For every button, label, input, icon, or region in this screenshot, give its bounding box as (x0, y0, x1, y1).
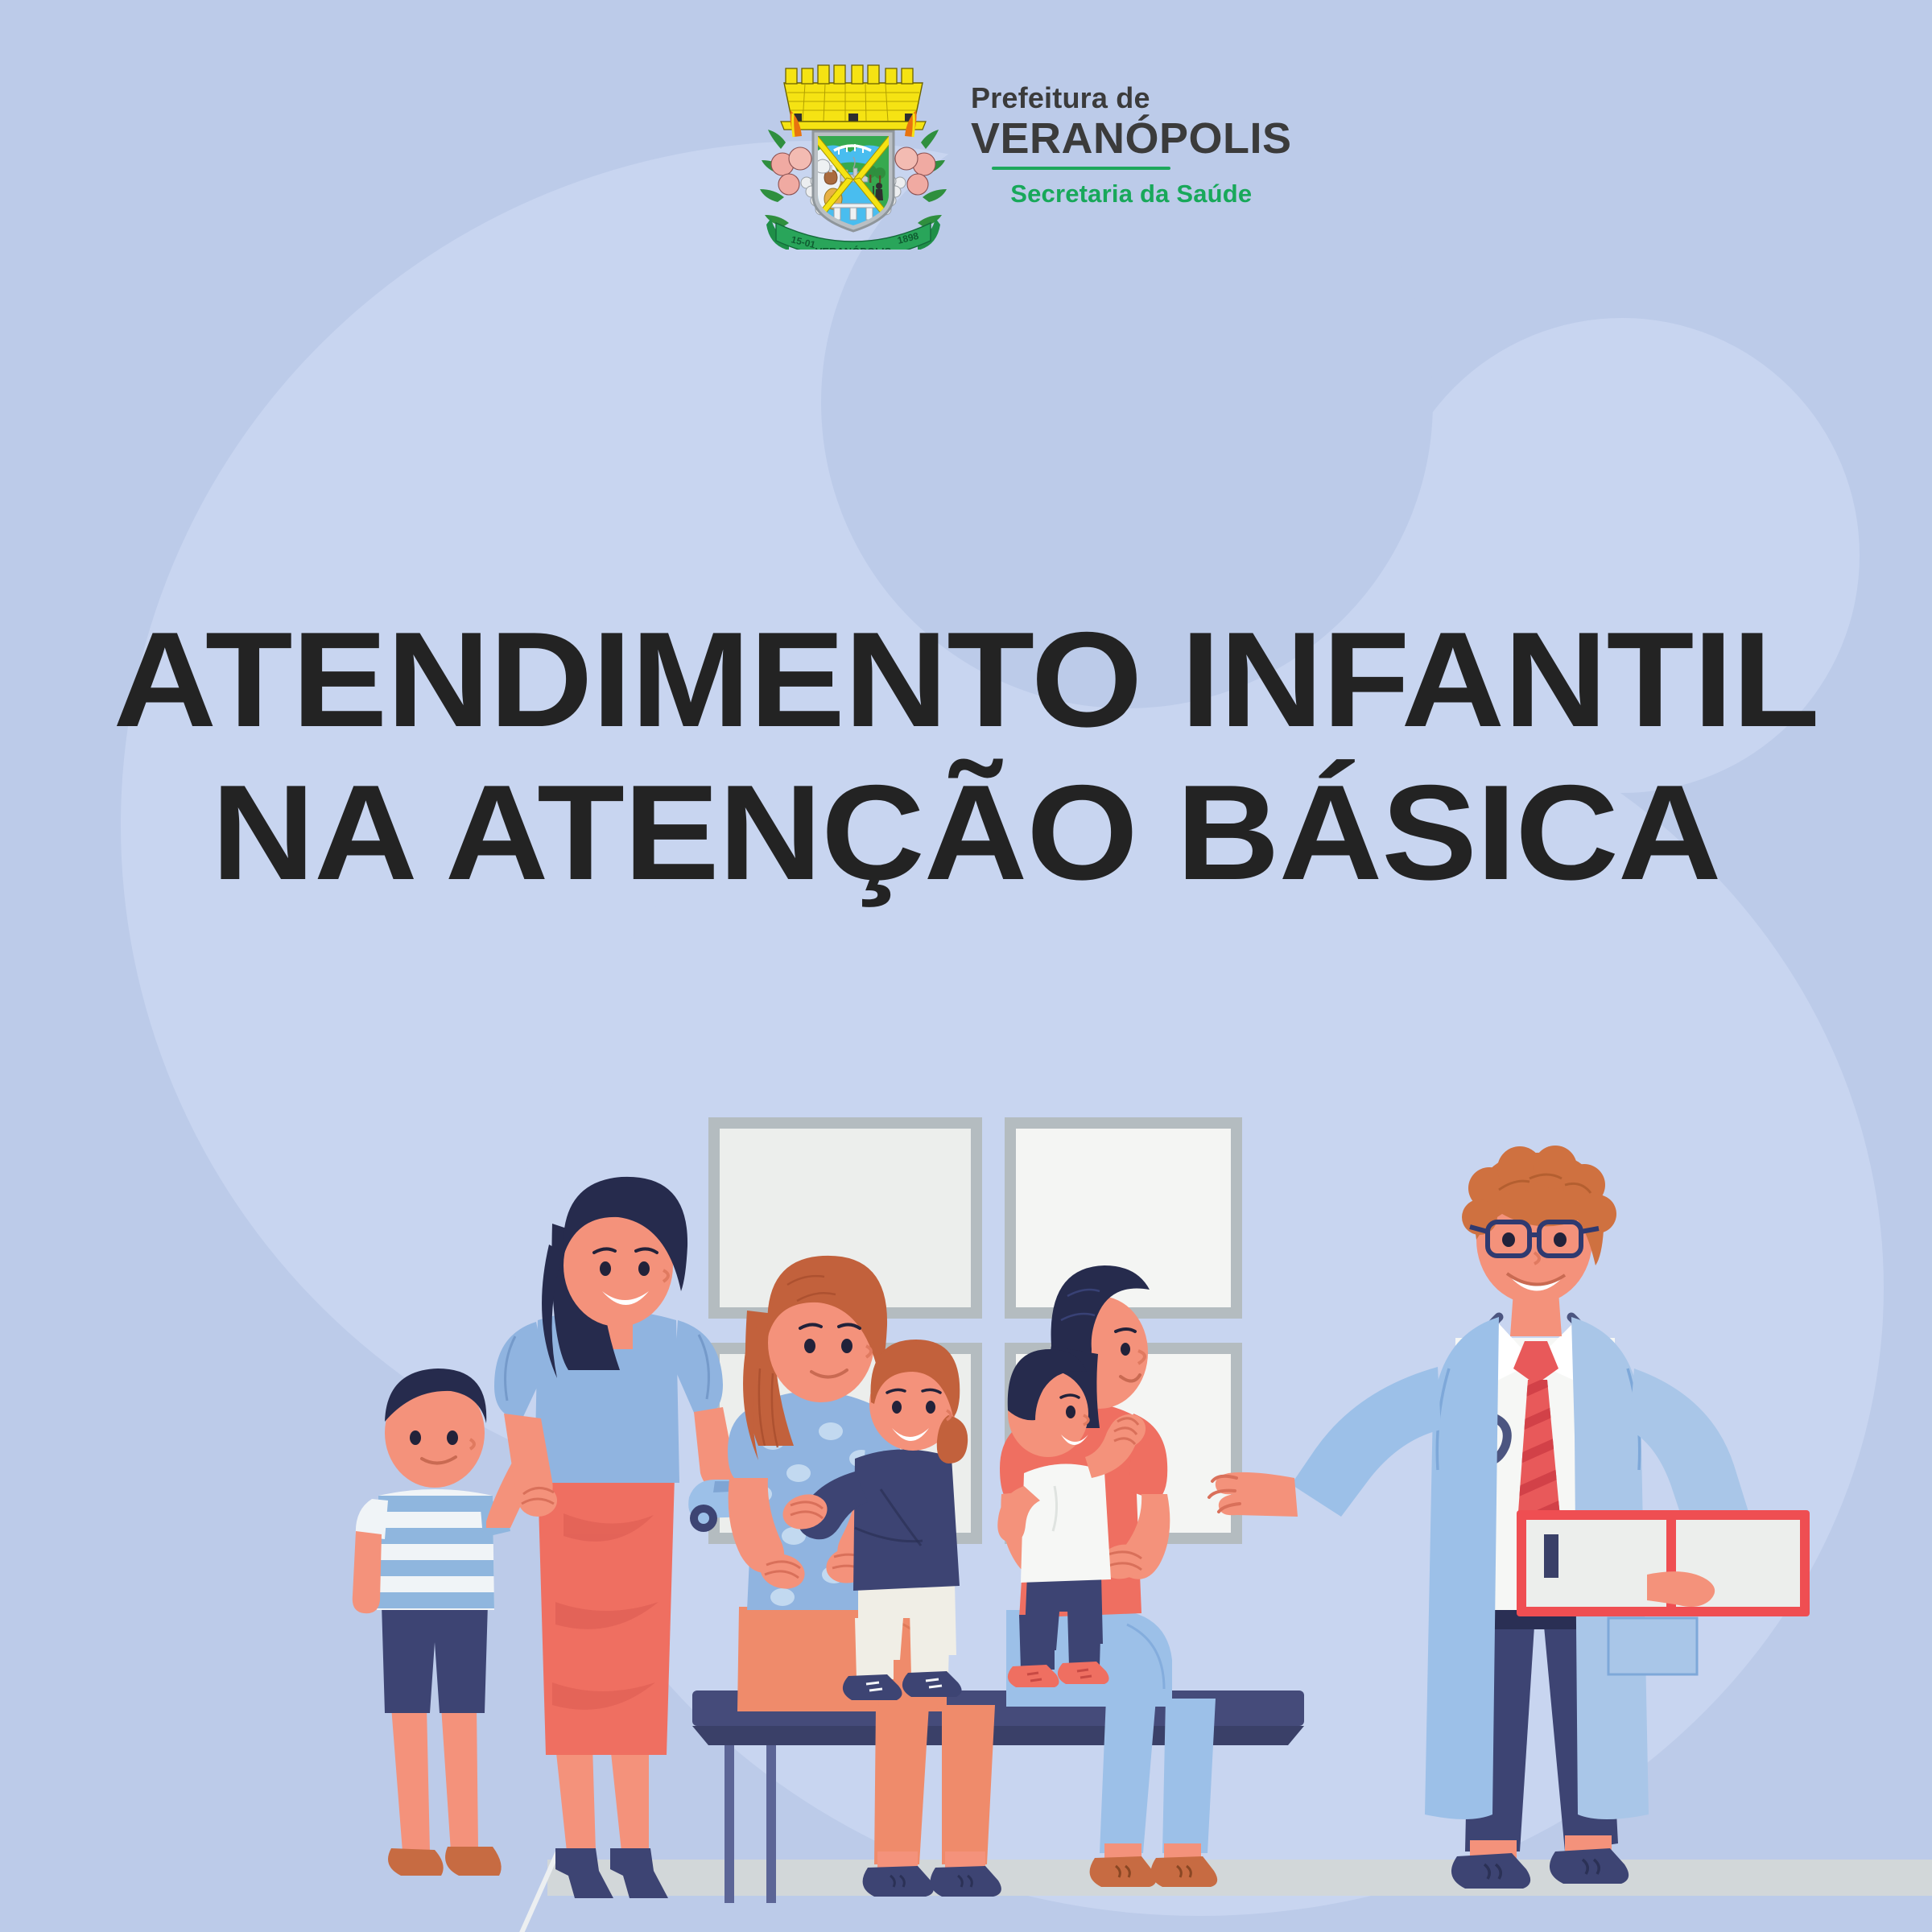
clinic-waiting-room-illustration (0, 0, 1932, 1932)
figure-doctor (1209, 1146, 1810, 1889)
poster-canvas: 15-01 VERANÓPOLIS 1898 Prefeitura de VER… (0, 0, 1932, 1932)
figure-mother-standing (494, 1177, 761, 1898)
